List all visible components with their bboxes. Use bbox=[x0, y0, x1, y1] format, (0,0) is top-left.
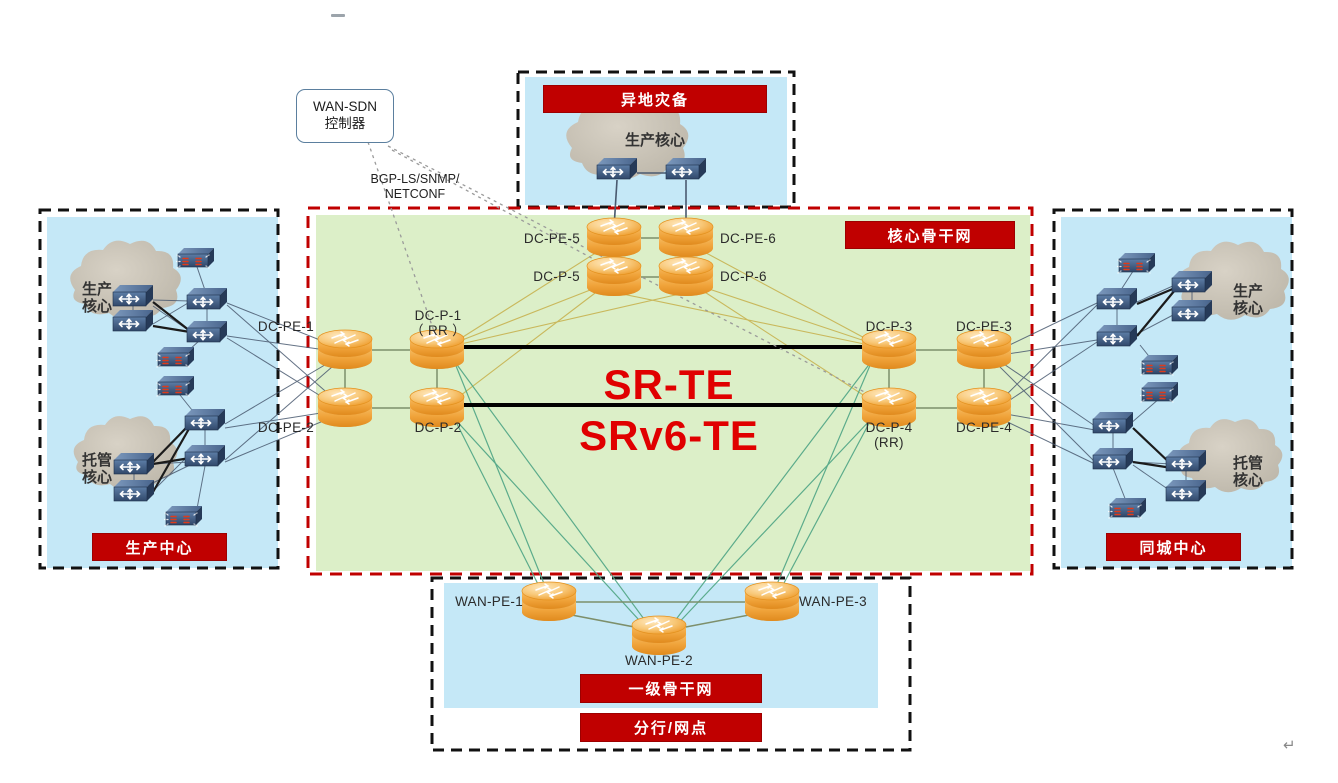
cloud-label-production-core-left: 生产 核心 bbox=[62, 281, 132, 316]
switch-device[interactable] bbox=[1172, 271, 1212, 292]
wan-sdn-controller-box[interactable]: WAN-SDN 控制器 bbox=[296, 89, 394, 143]
router-label-wan-pe-1: WAN-PE-1 bbox=[443, 594, 523, 609]
firewall-device[interactable] bbox=[1118, 253, 1156, 273]
zone-title-disaster-recovery: 异地灾备 bbox=[543, 85, 767, 113]
switch-device[interactable] bbox=[1166, 480, 1206, 501]
router-label-dc-p-1: DC-P-1 （ RR ） bbox=[400, 308, 476, 338]
firewall-device[interactable] bbox=[177, 248, 215, 268]
switch-device[interactable] bbox=[187, 321, 227, 342]
router-wan-pe-2[interactable] bbox=[632, 616, 686, 655]
router-label-dc-p-5: DC-P-5 bbox=[516, 269, 580, 284]
center-label-sr-te: SR-TE bbox=[0, 361, 1338, 409]
router-label-dc-pe-3: DC-PE-3 bbox=[944, 319, 1024, 334]
switch-device[interactable] bbox=[666, 158, 706, 179]
cloud-line2: 核心 bbox=[1213, 300, 1283, 317]
cloud-label-production-core-dr: 生产核心 bbox=[600, 132, 710, 149]
zone-title-production-center: 生产中心 bbox=[92, 533, 227, 561]
zone-title-same-city-center: 同城中心 bbox=[1106, 533, 1241, 561]
cloud-label-production-core-right: 生产 核心 bbox=[1213, 283, 1283, 318]
switch-device[interactable] bbox=[1097, 288, 1137, 309]
zone-title-level1-backbone: 一级骨干网 bbox=[580, 674, 762, 703]
router-label-dc-pe-5: DC-PE-5 bbox=[510, 231, 580, 246]
router-label-text: DC-P-1 bbox=[400, 308, 476, 323]
firewall-device[interactable] bbox=[165, 506, 203, 526]
switch-device[interactable] bbox=[1097, 325, 1137, 346]
cloud-line1: 生产 bbox=[1213, 283, 1283, 300]
cloud-line2: 核心 bbox=[62, 298, 132, 315]
cloud-line1: 生产 bbox=[62, 281, 132, 298]
controller-name-line2: 控制器 bbox=[325, 116, 366, 133]
cloud-line2: 核心 bbox=[1213, 472, 1283, 489]
router-label-dc-pe-6: DC-PE-6 bbox=[720, 231, 800, 246]
router-label-text: DC-P-4 bbox=[851, 420, 927, 435]
zone-title-branch-outlet: 分行/网点 bbox=[580, 713, 762, 742]
router-dc-pe-6[interactable] bbox=[659, 218, 713, 257]
diagram-canvas: WAN-SDN 控制器 BGP-LS/SNMP/ NETCONF 生产中心 异地… bbox=[0, 0, 1338, 783]
router-label-wan-pe-3: WAN-PE-3 bbox=[799, 594, 885, 609]
router-label-dc-pe-4: DC-PE-4 bbox=[944, 420, 1024, 435]
router-label-dc-p-4: DC-P-4 (RR) bbox=[851, 420, 927, 450]
router-label-dc-p-2: DC-P-2 bbox=[400, 420, 476, 435]
cloud-label-hosting-core-right: 托管 核心 bbox=[1213, 455, 1283, 490]
router-label-wan-pe-2: WAN-PE-2 bbox=[612, 653, 706, 668]
firewall-device[interactable] bbox=[1109, 498, 1147, 518]
zone-title-core-backbone: 核心骨干网 bbox=[845, 221, 1015, 249]
router-wan-pe-3[interactable] bbox=[745, 582, 799, 621]
router-label-sub: (RR) bbox=[851, 435, 927, 450]
router-dc-pe-5[interactable] bbox=[587, 218, 641, 257]
stray-artifact-mark bbox=[331, 14, 345, 17]
pilcrow-mark: ↵ bbox=[1283, 736, 1296, 754]
switch-device[interactable] bbox=[597, 158, 637, 179]
router-wan-pe-1[interactable] bbox=[522, 582, 576, 621]
router-label-sub: （ RR ） bbox=[400, 323, 476, 338]
switch-device[interactable] bbox=[1172, 300, 1212, 321]
switch-device[interactable] bbox=[187, 288, 227, 309]
center-label-srv6-te: SRv6-TE bbox=[0, 412, 1338, 460]
protocol-line2: NETCONF bbox=[345, 187, 485, 202]
router-dc-p-6[interactable] bbox=[659, 257, 713, 296]
router-label-dc-pe-2: DC-PE-2 bbox=[242, 420, 314, 435]
router-label-dc-pe-1: DC-PE-1 bbox=[242, 319, 314, 334]
router-label-dc-p-6: DC-P-6 bbox=[720, 269, 790, 284]
cloud-line2: 核心 bbox=[62, 469, 132, 486]
router-label-dc-p-3: DC-P-3 bbox=[851, 319, 927, 334]
controller-name-line1: WAN-SDN bbox=[313, 99, 377, 116]
controller-protocol-annotation: BGP-LS/SNMP/ NETCONF bbox=[345, 172, 485, 202]
protocol-line1: BGP-LS/SNMP/ bbox=[345, 172, 485, 187]
router-dc-p-5[interactable] bbox=[587, 257, 641, 296]
